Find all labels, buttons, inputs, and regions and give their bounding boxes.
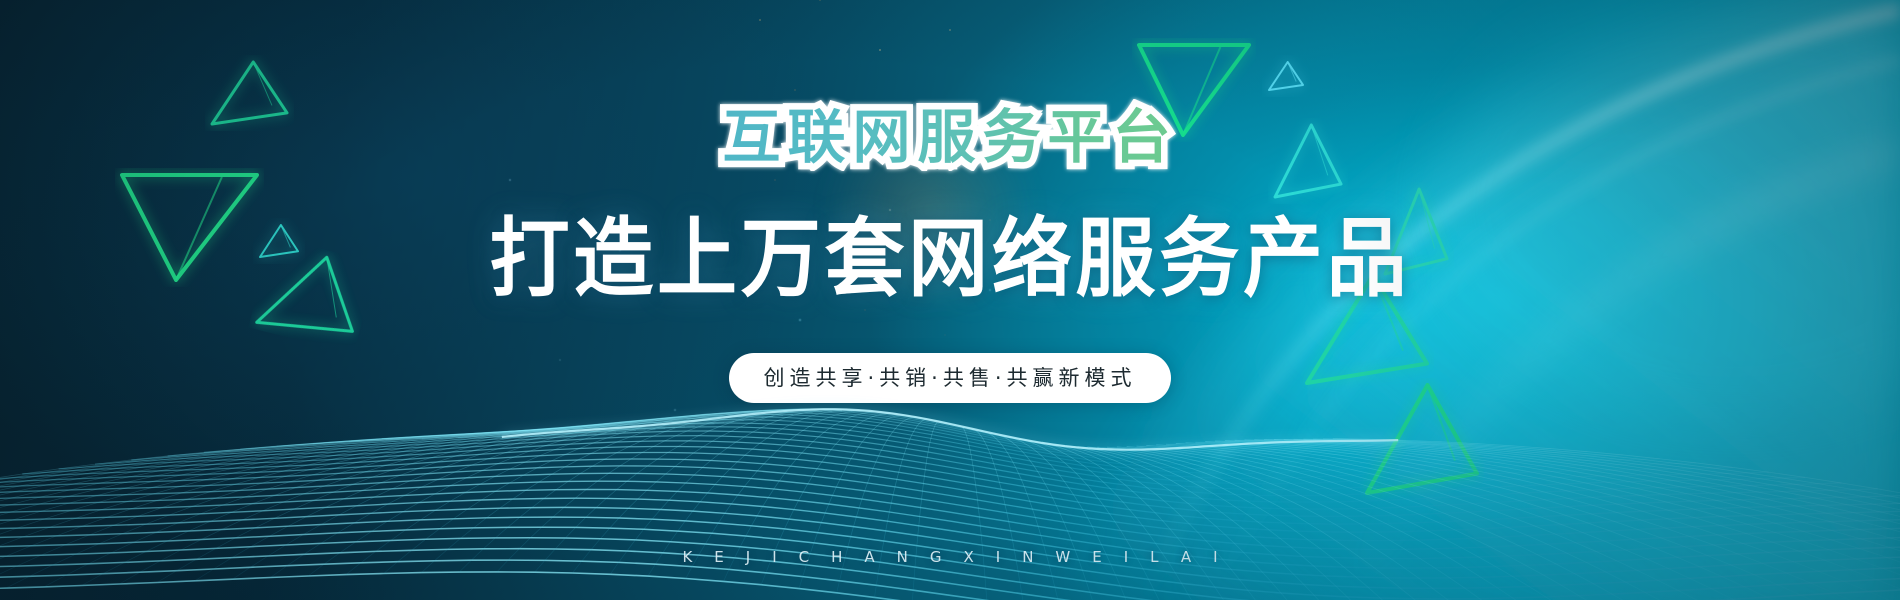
tagline-badge: 创造共享·共销·共售·共赢新模式 xyxy=(729,353,1170,403)
page-title-fill: 互联网服务平台 xyxy=(722,103,1177,171)
hero-banner: 互联网服务平台 互联网服务平台 打造上万套网络服务产品 创造共享·共销·共售·共… xyxy=(0,0,1900,600)
page-title: 互联网服务平台 互联网服务平台 xyxy=(722,108,1177,166)
page-subtitle: 打造上万套网络服务产品 xyxy=(490,188,1411,313)
hero-text-block: 互联网服务平台 互联网服务平台 打造上万套网络服务产品 创造共享·共销·共售·共… xyxy=(0,0,1900,600)
footer-pinyin: KEJICHANGXINWEILAI xyxy=(0,548,1900,566)
